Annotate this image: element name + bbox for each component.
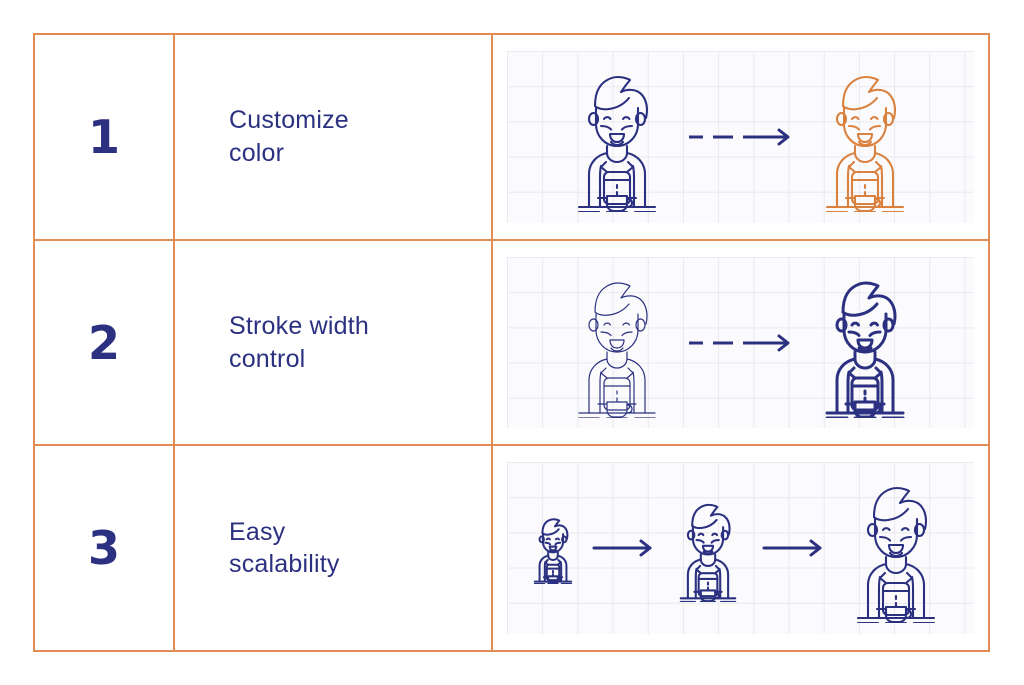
illustration-group [493, 35, 988, 239]
illustration-group [493, 241, 988, 445]
row-number-cell: 2 [35, 241, 175, 445]
row-label: Customize color [229, 104, 349, 169]
barista-icon-thick [801, 268, 929, 418]
row-label: Stroke width control [229, 310, 369, 375]
row-number: 3 [88, 525, 120, 571]
row-number: 1 [88, 114, 120, 160]
row-number: 2 [88, 320, 120, 366]
feature-table: 1 Customize color [33, 33, 990, 652]
row-illustration-cell [493, 35, 988, 239]
barista-icon-large [832, 473, 960, 623]
table-row: 3 Easy scalability [35, 446, 988, 650]
table-row: 1 Customize color [35, 35, 988, 241]
arrow-right-icon [754, 533, 832, 563]
row-number-cell: 3 [35, 446, 175, 650]
row-illustration-cell [493, 241, 988, 445]
barista-icon-small [522, 512, 584, 584]
row-label-cell: Easy scalability [175, 446, 493, 650]
row-label: Easy scalability [229, 516, 340, 581]
row-label-cell: Customize color [175, 35, 493, 239]
table-row: 2 Stroke width control [35, 241, 988, 447]
barista-icon-navy [553, 62, 681, 212]
row-number-cell: 1 [35, 35, 175, 239]
row-illustration-cell [493, 446, 988, 650]
row-label-cell: Stroke width control [175, 241, 493, 445]
barista-icon-thin [553, 268, 681, 418]
dashed-arrow-right-icon [681, 122, 801, 152]
illustration-group [493, 446, 988, 650]
barista-icon-medium [662, 494, 754, 602]
arrow-right-icon [584, 533, 662, 563]
barista-icon-orange [801, 62, 929, 212]
infographic-root: { "colors": { "border": "#e08c52", "ink"… [0, 0, 1024, 685]
dashed-arrow-right-icon [681, 328, 801, 358]
